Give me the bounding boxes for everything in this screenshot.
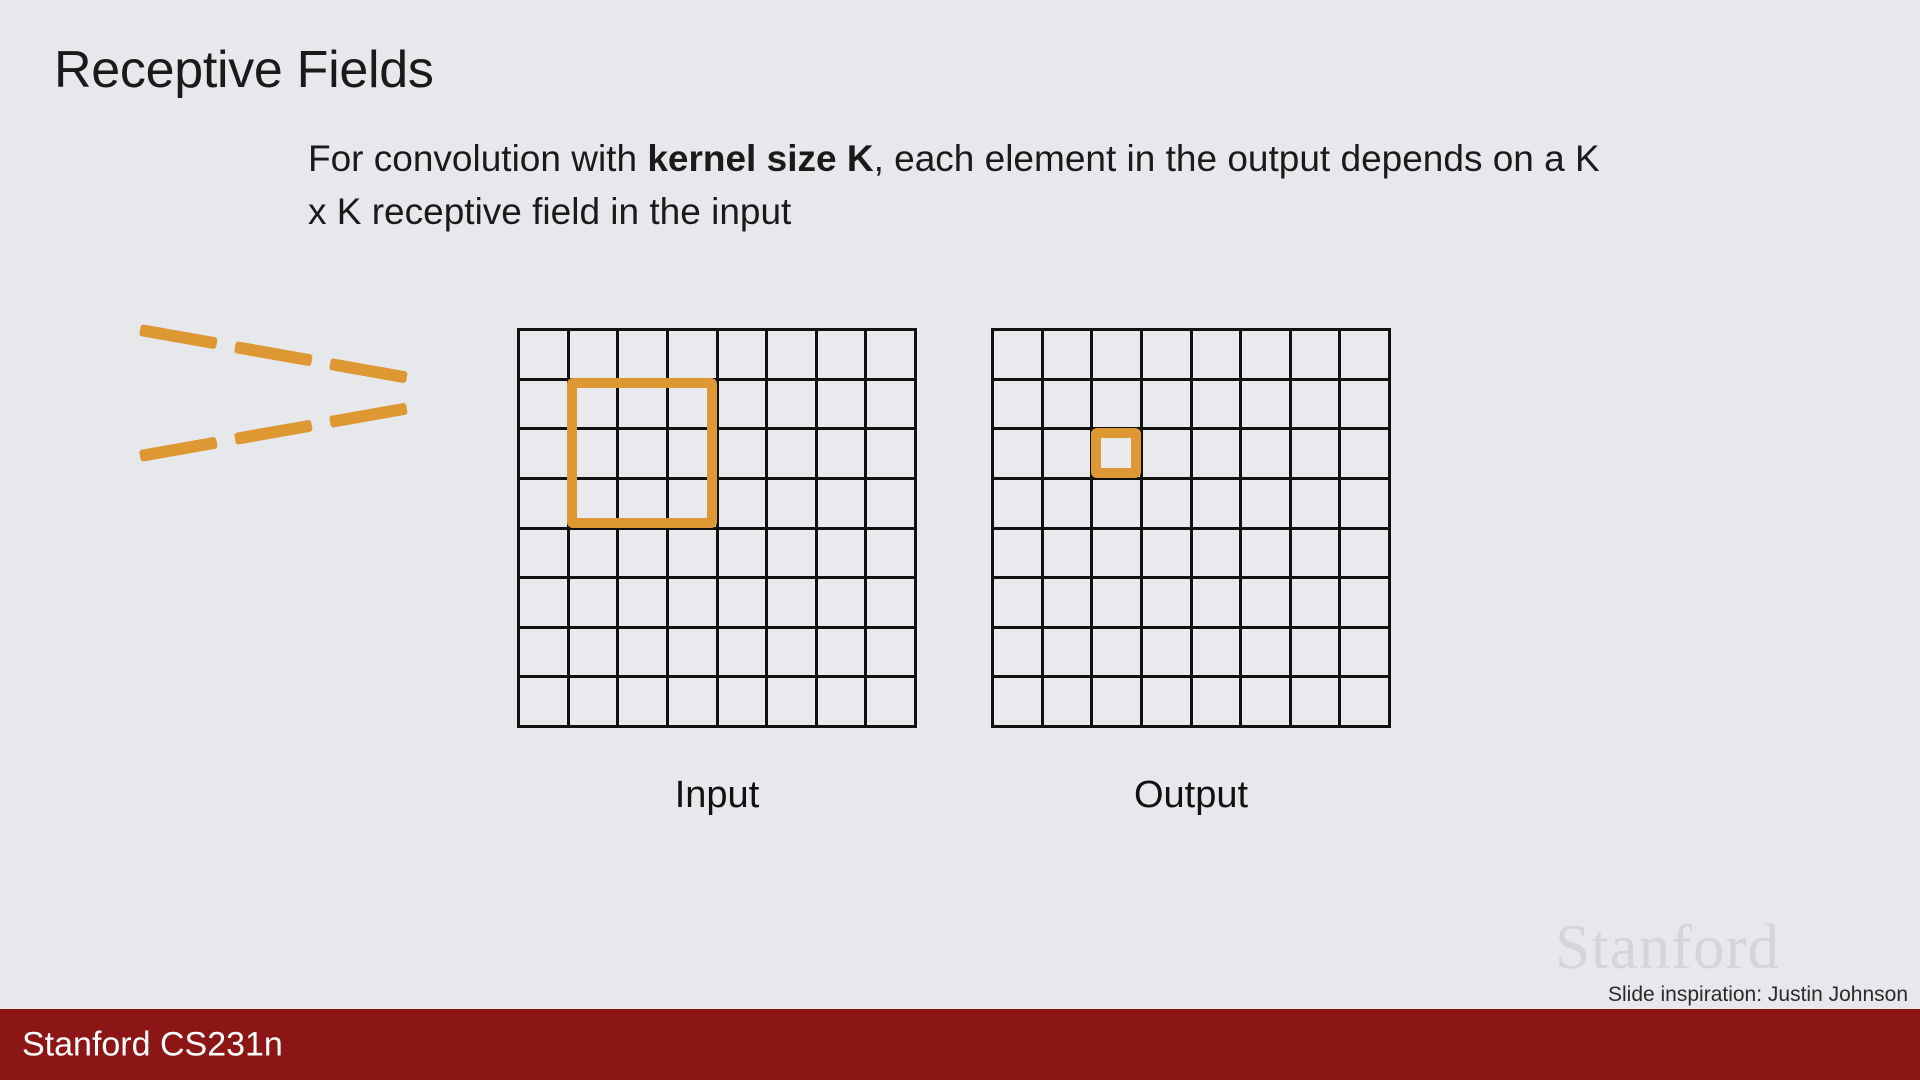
receptive-field-diagram: Input Output <box>0 320 1920 820</box>
input-grid-cell <box>570 629 620 679</box>
input-grid-label: Input <box>517 774 917 817</box>
input-grid-cell <box>818 629 868 679</box>
output-grid-label: Output <box>991 774 1391 817</box>
output-grid-cell <box>1292 381 1342 431</box>
output-grid-cell <box>994 331 1044 381</box>
output-grid-cell <box>994 530 1044 580</box>
output-grid-cell <box>1044 530 1094 580</box>
input-grid-cell <box>818 678 868 728</box>
output-grid-cell <box>1341 530 1391 580</box>
input-grid-cell <box>867 530 917 580</box>
output-grid-cell <box>1093 381 1143 431</box>
input-grid-cell <box>867 430 917 480</box>
output-grid-cell <box>1341 480 1391 530</box>
upper-dash-3 <box>329 358 408 383</box>
body-text-bold: kernel size K <box>647 138 873 179</box>
input-grid-cell <box>619 430 669 480</box>
input-grid-cell <box>768 430 818 480</box>
input-grid-cell <box>619 678 669 728</box>
slide-canvas: Receptive Fields For convolution with ke… <box>0 0 1920 1080</box>
input-grid-cell <box>619 381 669 431</box>
input-grid-cell <box>570 480 620 530</box>
input-grid-cell <box>520 381 570 431</box>
upper-dash-2 <box>234 341 313 366</box>
output-grid-cell <box>1193 678 1243 728</box>
input-grid-cell <box>570 579 620 629</box>
output-grid-cell <box>1143 331 1193 381</box>
output-grid-cell <box>1242 480 1292 530</box>
input-grid-cell <box>669 629 719 679</box>
output-grid-cell <box>1242 629 1292 679</box>
input-grid-cell <box>570 331 620 381</box>
output-grid-cell <box>1044 480 1094 530</box>
input-grid-cell <box>818 331 868 381</box>
output-grid-cell <box>994 381 1044 431</box>
input-grid-cell <box>619 629 669 679</box>
output-grid-cell <box>1093 579 1143 629</box>
slide-attribution: Slide inspiration: Justin Johnson <box>1608 983 1908 1007</box>
input-grid-cell <box>520 579 570 629</box>
input-grid-cell <box>768 530 818 580</box>
input-grid-cell <box>719 480 769 530</box>
input-grid-cell <box>570 678 620 728</box>
output-grid-cell <box>994 480 1044 530</box>
output-grid-cell <box>1292 579 1342 629</box>
input-grid-cell <box>719 530 769 580</box>
input-grid-cell <box>520 480 570 530</box>
output-grid <box>991 328 1391 728</box>
input-grid-cell <box>768 480 818 530</box>
output-grid-cell <box>1193 579 1243 629</box>
input-grid-cell <box>867 381 917 431</box>
lower-dash-3 <box>329 403 408 428</box>
input-grid-cell <box>570 430 620 480</box>
footer-bar: Stanford CS231n <box>0 1009 1920 1080</box>
input-grid-cell <box>669 480 719 530</box>
output-grid-cell <box>1292 331 1342 381</box>
input-grid <box>517 328 917 728</box>
output-grid-cell <box>1242 331 1292 381</box>
output-grid-cell <box>1242 430 1292 480</box>
output-grid-cell <box>1242 579 1292 629</box>
page-title: Receptive Fields <box>54 40 434 100</box>
output-grid-cell <box>1292 678 1342 728</box>
output-grid-cell <box>1193 381 1243 431</box>
input-grid-cell <box>719 579 769 629</box>
input-grid-cell <box>520 331 570 381</box>
output-grid-cell <box>1341 678 1391 728</box>
output-grid-cell <box>1143 430 1193 480</box>
output-grid-cell <box>1044 579 1094 629</box>
input-grid-cell <box>619 480 669 530</box>
output-grid-cell <box>1292 480 1342 530</box>
input-grid-cell <box>570 381 620 431</box>
output-grid-cell <box>1292 430 1342 480</box>
input-grid-cell <box>818 381 868 431</box>
input-grid-cell <box>669 530 719 580</box>
output-grid-cell <box>1093 480 1143 530</box>
output-grid-cell <box>1242 381 1292 431</box>
input-grid-cell <box>520 430 570 480</box>
output-grid-cell <box>1341 629 1391 679</box>
output-grid-cell <box>1093 331 1143 381</box>
output-grid-cell <box>1093 678 1143 728</box>
input-grid-cell <box>719 678 769 728</box>
output-grid-cell <box>1044 629 1094 679</box>
input-grid-cell <box>669 678 719 728</box>
output-grid-cell <box>1341 381 1391 431</box>
input-grid-cell <box>867 331 917 381</box>
output-grid-cell <box>1193 480 1243 530</box>
output-grid-cell <box>994 430 1044 480</box>
output-grid-cell <box>1341 430 1391 480</box>
output-grid-cell <box>1292 629 1342 679</box>
input-grid-cell <box>719 430 769 480</box>
input-grid-cell <box>669 579 719 629</box>
output-grid-cell <box>1044 331 1094 381</box>
input-grid-cell <box>818 430 868 480</box>
output-grid-cell <box>1242 530 1292 580</box>
output-grid-cell <box>1193 530 1243 580</box>
input-grid-cell <box>867 579 917 629</box>
input-grid-cell <box>768 331 818 381</box>
input-grid-cell <box>867 678 917 728</box>
output-grid-cell <box>1143 678 1193 728</box>
input-grid-cell <box>669 331 719 381</box>
output-grid-cell <box>1341 579 1391 629</box>
output-grid-cell <box>1143 480 1193 530</box>
input-grid-cell <box>719 381 769 431</box>
input-grid-cell <box>619 331 669 381</box>
output-grid-cell <box>1143 629 1193 679</box>
output-grid-cell <box>1292 530 1342 580</box>
body-paragraph: For convolution with kernel size K, each… <box>308 133 1608 238</box>
lower-dash-1 <box>139 437 218 462</box>
output-grid-cell <box>1044 678 1094 728</box>
input-grid-cell <box>570 530 620 580</box>
input-grid-cell <box>818 579 868 629</box>
input-grid-cell <box>619 579 669 629</box>
input-grid-cell <box>768 678 818 728</box>
output-grid-cell <box>1193 331 1243 381</box>
input-grid-cell <box>768 579 818 629</box>
input-grid-cell <box>768 629 818 679</box>
input-grid-cell <box>768 381 818 431</box>
input-grid-cell <box>520 629 570 679</box>
output-grid-cell <box>994 678 1044 728</box>
output-grid-cell <box>1143 381 1193 431</box>
upper-dash-1 <box>139 324 218 349</box>
output-grid-cell <box>994 629 1044 679</box>
input-grid-cell <box>520 678 570 728</box>
body-text-prefix: For convolution with <box>308 138 647 179</box>
output-grid-cell <box>1193 629 1243 679</box>
input-grid-cell <box>867 629 917 679</box>
output-grid-cell <box>1044 430 1094 480</box>
stanford-logo-watermark: Stanford <box>1555 911 1780 984</box>
input-grid-cell <box>818 480 868 530</box>
output-grid-cell <box>994 579 1044 629</box>
input-grid-cell <box>719 629 769 679</box>
input-grid-cell <box>520 530 570 580</box>
output-grid-cell <box>1341 331 1391 381</box>
output-grid-cell <box>1143 530 1193 580</box>
output-grid-cell <box>1044 381 1094 431</box>
input-grid-cell <box>669 381 719 431</box>
lower-dash-2 <box>234 420 313 445</box>
output-grid-cell <box>1093 530 1143 580</box>
output-grid-cell <box>1193 430 1243 480</box>
input-grid-cell <box>818 530 868 580</box>
input-grid-cell <box>669 430 719 480</box>
input-grid-cell <box>867 480 917 530</box>
output-grid-cell <box>1093 430 1143 480</box>
output-grid-cell <box>1093 629 1143 679</box>
input-grid-cell <box>719 331 769 381</box>
footer-course-label: Stanford CS231n <box>22 1025 283 1064</box>
output-grid-cell <box>1242 678 1292 728</box>
output-grid-cell <box>1143 579 1193 629</box>
input-grid-cell <box>619 530 669 580</box>
